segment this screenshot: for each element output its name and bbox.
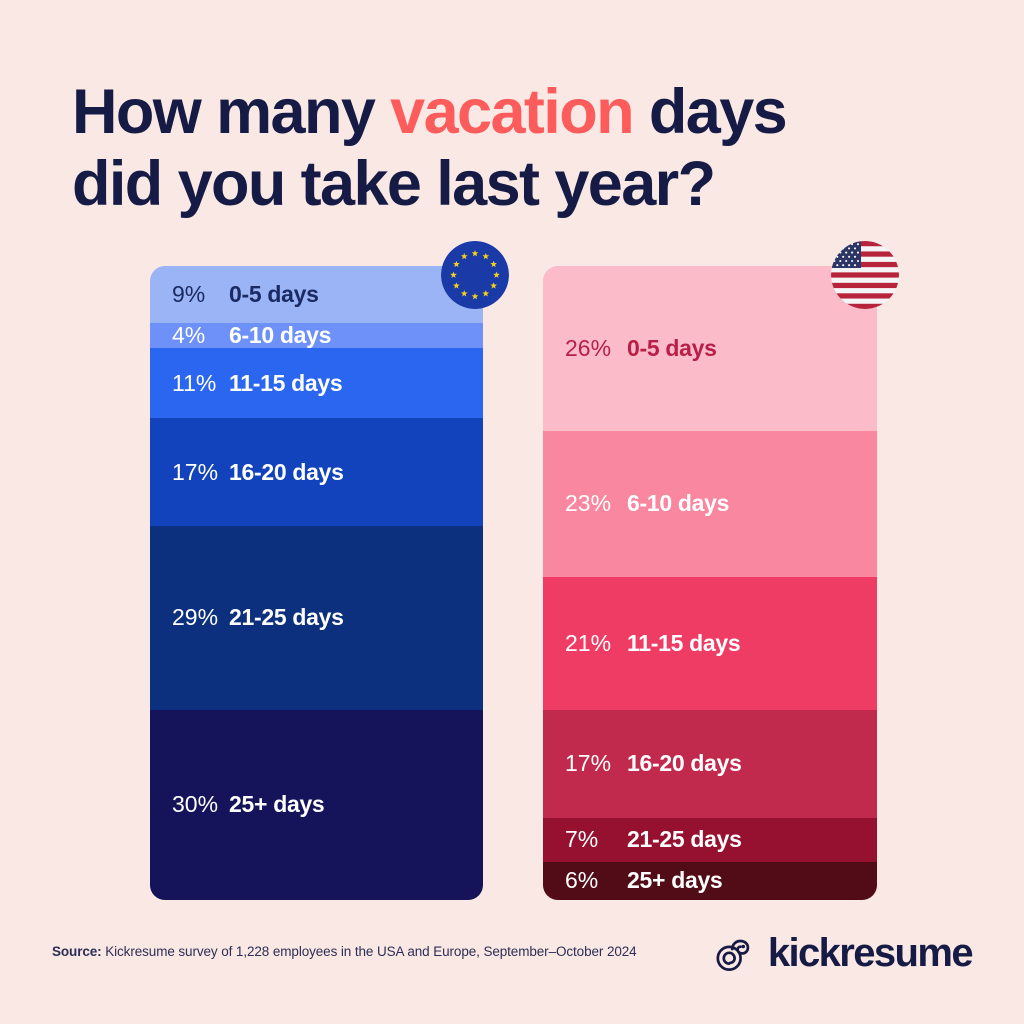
chart-europe: 9%0-5 days4%6-10 days11%11-15 days17%16-… xyxy=(150,266,483,900)
segment-percent: 17% xyxy=(565,750,627,777)
kickresume-chameleon-logo-icon xyxy=(713,932,755,974)
segment-label: 21-25 days xyxy=(627,826,742,853)
segment-label: 11-15 days xyxy=(627,630,740,657)
segment-label: 6-10 days xyxy=(627,490,729,517)
brand-name: kickresume xyxy=(768,932,972,974)
bar-segment-us-16-20-days: 17%16-20 days xyxy=(543,710,877,818)
segment-percent: 30% xyxy=(172,791,229,818)
segment-percent: 4% xyxy=(172,323,229,348)
bar-segment-us-6-10-days: 23%6-10 days xyxy=(543,431,877,577)
us-flag-icon xyxy=(831,241,899,309)
eu-flag-icon xyxy=(441,241,509,309)
segment-percent: 11% xyxy=(172,370,229,397)
segment-percent: 21% xyxy=(565,630,627,657)
bar-segment-us-11-15-days: 21%11-15 days xyxy=(543,577,877,710)
segment-label: 16-20 days xyxy=(229,459,344,486)
segment-percent: 17% xyxy=(172,459,229,486)
segment-percent: 9% xyxy=(172,281,229,308)
bar-segment-eu-21-25-days: 29%21-25 days xyxy=(150,526,483,710)
segment-label: 16-20 days xyxy=(627,750,742,777)
segment-percent: 26% xyxy=(565,335,627,362)
segment-label: 6-10 days xyxy=(229,323,331,348)
chart-usa: 26%0-5 days23%6-10 days21%11-15 days17%1… xyxy=(543,266,877,900)
segment-label: 11-15 days xyxy=(229,370,342,397)
segment-label: 0-5 days xyxy=(229,281,319,308)
segment-percent: 6% xyxy=(565,867,627,894)
bar-segment-eu-25-days: 30%25+ days xyxy=(150,710,483,900)
charts-container: 9%0-5 days4%6-10 days11%11-15 days17%16-… xyxy=(0,0,1024,1024)
segment-label: 21-25 days xyxy=(229,604,344,631)
bar-segment-us-21-25-days: 7%21-25 days xyxy=(543,818,877,862)
bar-segment-eu-6-10-days: 4%6-10 days xyxy=(150,323,483,348)
source-text: Kickresume survey of 1,228 employees in … xyxy=(102,944,637,959)
source-note: Source: Kickresume survey of 1,228 emplo… xyxy=(52,944,637,959)
segment-label: 25+ days xyxy=(627,867,722,894)
bar-segment-eu-11-15-days: 11%11-15 days xyxy=(150,348,483,418)
stacked-bar-europe: 9%0-5 days4%6-10 days11%11-15 days17%16-… xyxy=(150,266,483,900)
segment-label: 0-5 days xyxy=(627,335,717,362)
segment-percent: 23% xyxy=(565,490,627,517)
segment-percent: 29% xyxy=(172,604,229,631)
bar-segment-us-0-5-days: 26%0-5 days xyxy=(543,266,877,431)
segment-percent: 7% xyxy=(565,826,627,853)
source-label: Source: xyxy=(52,944,102,959)
bar-segment-us-25-days: 6%25+ days xyxy=(543,862,877,900)
brand-logo[interactable]: kickresume xyxy=(713,932,972,974)
stacked-bar-usa: 26%0-5 days23%6-10 days21%11-15 days17%1… xyxy=(543,266,877,900)
bar-segment-eu-16-20-days: 17%16-20 days xyxy=(150,418,483,526)
segment-label: 25+ days xyxy=(229,791,324,818)
bar-segment-eu-0-5-days: 9%0-5 days xyxy=(150,266,483,323)
